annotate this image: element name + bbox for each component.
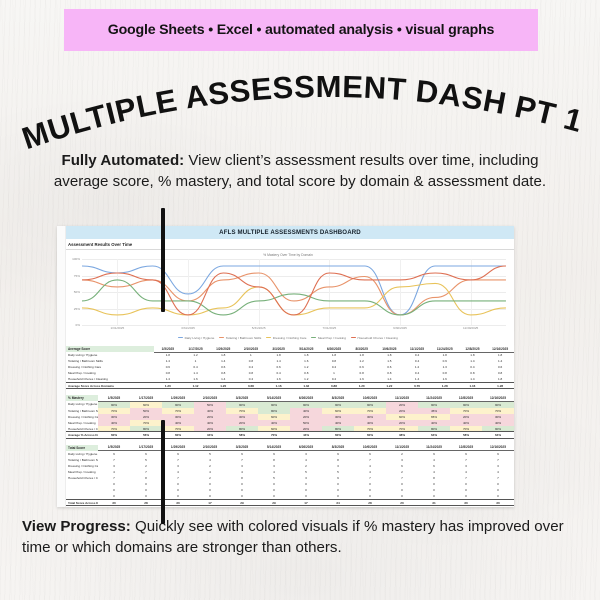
total-score-table[interactable]: Total Score1/5/20251/17/20251/29/20252/1…: [66, 439, 514, 507]
table-summary-value[interactable]: 1.16: [459, 383, 487, 389]
table-summary-value[interactable]: 1.12: [182, 383, 210, 389]
arched-title-text: MULTIPLE ASSESSMENT DASH PT 1: [18, 69, 587, 156]
table-summary-value[interactable]: 30: [98, 500, 130, 506]
table-summary-row: Average % Across Domains60%56%60%34%58%7…: [66, 432, 514, 438]
dashboard-subtitle: Assessment Results Over Time: [68, 242, 132, 247]
chart-line-series-4: [82, 266, 506, 315]
legend-swatch-icon: [266, 337, 271, 338]
table-summary-label[interactable]: Average Score Across Domains: [66, 383, 154, 389]
table-summary-value[interactable]: 60%: [322, 432, 354, 438]
table-summary-value[interactable]: 1.28: [431, 383, 459, 389]
chart-y-tick: 50%: [74, 290, 80, 294]
chart-series-svg: [82, 259, 506, 329]
table-summary-value[interactable]: 29: [226, 500, 258, 506]
table-summary-label[interactable]: Average % Across Domains: [66, 432, 98, 438]
table-summary-row: Total Score Across Domains30283017292917…: [66, 500, 514, 506]
dashboard-subtitle-row: Assessment Results Over Time: [66, 239, 514, 250]
fully-automated-lead: Fully Automated:: [61, 152, 184, 169]
legend-swatch-icon: [178, 337, 183, 338]
chart-legend[interactable]: Daily Living / HygieneToileting / Bathro…: [66, 333, 510, 342]
table-summary-value[interactable]: 1.20: [209, 383, 237, 389]
table-summary-value[interactable]: 64%: [482, 432, 514, 438]
feature-banner: Google Sheets • Excel • automated analys…: [64, 9, 538, 51]
chart-x-tick: 9/30/2025: [393, 326, 407, 330]
chart-x-axis: 1/31/20253/31/20255/31/20257/31/20259/30…: [82, 325, 506, 333]
chart-x-tick: 3/31/2025: [181, 326, 195, 330]
table-summary-value[interactable]: 20: [386, 500, 418, 506]
table-summary-value[interactable]: 70%: [258, 432, 290, 438]
table-summary-value[interactable]: 1.20: [348, 383, 376, 389]
row-number-gutter: [57, 226, 66, 507]
table-summary-value[interactable]: 28: [354, 500, 386, 506]
chart-y-tick: 75%: [74, 274, 80, 278]
table-summary-value[interactable]: 64%: [418, 432, 450, 438]
chart-plot-area: 100%75%50%25%0%: [82, 259, 506, 325]
legend-swatch-icon: [351, 337, 356, 338]
chart-x-tick: 11/30/2025: [463, 326, 478, 330]
legend-label: Toileting / Bathroom Skills: [226, 336, 261, 340]
legend-label: Daily Living / Hygiene: [185, 336, 215, 340]
dashboard-screenshot[interactable]: AFLS MULTIPLE ASSESSMENTS DASHBOARD Asse…: [57, 226, 514, 507]
table-summary-label[interactable]: Total Score Across Domains: [66, 500, 98, 506]
table-summary-value[interactable]: 34: [322, 500, 354, 506]
view-progress-lead: View Progress:: [22, 518, 131, 535]
table-summary-value[interactable]: 28: [130, 500, 162, 506]
feature-banner-text: Google Sheets • Excel • automated analys…: [108, 22, 495, 38]
table-summary-value[interactable]: 29: [258, 500, 290, 506]
fully-automated-paragraph: Fully Automated: View client’s assessmen…: [38, 150, 562, 193]
dashboard-title-bar: AFLS MULTIPLE ASSESSMENTS DASHBOARD: [66, 226, 514, 239]
chart-y-axis: 100%75%50%25%0%: [67, 259, 81, 325]
table-summary-value[interactable]: 60%: [98, 432, 130, 438]
percent-mastery-table[interactable]: % Mastery1/5/20251/17/20251/29/20252/10/…: [66, 389, 514, 438]
dashboard-title: AFLS MULTIPLE ASSESSMENTS DASHBOARD: [219, 229, 361, 236]
arched-title-svg: MULTIPLE ASSESSMENT DASH PT 1: [0, 58, 600, 154]
table-summary-value[interactable]: 58%: [450, 432, 482, 438]
mastery-chart[interactable]: % Mastery Over Time by Domain 100%75%50%…: [66, 250, 514, 346]
table-summary-value[interactable]: 1.22: [376, 383, 404, 389]
table-summary-value[interactable]: 1.16: [265, 383, 293, 389]
legend-swatch-icon: [311, 337, 316, 338]
table-summary-value[interactable]: 0.88: [320, 383, 348, 389]
table-summary-value[interactable]: 60%: [162, 432, 194, 438]
table-summary-value[interactable]: 17: [290, 500, 322, 506]
chart-y-tick: 100%: [72, 257, 80, 261]
chart-y-tick: 25%: [74, 307, 80, 311]
table-summary-value[interactable]: 1.32: [292, 383, 320, 389]
chart-legend-item[interactable]: Toileting / Bathroom Skills: [219, 336, 261, 340]
page-title: MULTIPLE ASSESSMENT DASH PT 1: [0, 58, 600, 154]
table-summary-value[interactable]: 60%: [354, 432, 386, 438]
legend-label: Meal Prep / Cooking: [318, 336, 346, 340]
table-summary-value[interactable]: 44%: [290, 432, 322, 438]
chart-y-tick: 0%: [76, 323, 80, 327]
table-summary-row: Average Score Across Domains1.201.121.20…: [66, 383, 514, 389]
table-summary-value[interactable]: 17: [194, 500, 226, 506]
table-summary-value[interactable]: 58%: [226, 432, 258, 438]
pointer-bar-top: [161, 208, 165, 312]
average-score-table[interactable]: Average Score1/5/20251/17/20251/29/20252…: [66, 346, 514, 389]
chart-x-tick: 1/31/2025: [110, 326, 124, 330]
table-summary-value[interactable]: 30: [482, 500, 514, 506]
table-summary-value[interactable]: 0.68: [237, 383, 265, 389]
chart-x-tick: 5/31/2025: [252, 326, 266, 330]
table-summary-value[interactable]: 56%: [130, 432, 162, 438]
table-summary-value[interactable]: 1.20: [154, 383, 182, 389]
legend-label: Dressing / Clothing Care: [273, 336, 307, 340]
table-summary-value[interactable]: 34%: [194, 432, 226, 438]
table-summary-value[interactable]: 0.76: [403, 383, 431, 389]
legend-label: Household Chores / Cleaning: [357, 336, 397, 340]
legend-swatch-icon: [219, 337, 224, 338]
chart-legend-item[interactable]: Household Chores / Cleaning: [351, 336, 398, 340]
pointer-bar-bottom: [161, 420, 165, 524]
chart-x-tick: 7/31/2025: [322, 326, 336, 330]
view-progress-paragraph: View Progress: Quickly see with colored …: [22, 516, 578, 559]
chart-legend-item[interactable]: Meal Prep / Cooking: [311, 336, 346, 340]
table-summary-value[interactable]: 31: [418, 500, 450, 506]
table-summary-value[interactable]: 38%: [386, 432, 418, 438]
chart-legend-item[interactable]: Dressing / Clothing Care: [266, 336, 306, 340]
chart-legend-item[interactable]: Daily Living / Hygiene: [178, 336, 214, 340]
table-summary-value[interactable]: 30: [162, 500, 194, 506]
chart-title: % Mastery Over Time by Domain: [66, 252, 510, 259]
table-summary-value[interactable]: 30: [450, 500, 482, 506]
table-summary-value[interactable]: 1.28: [486, 383, 514, 389]
